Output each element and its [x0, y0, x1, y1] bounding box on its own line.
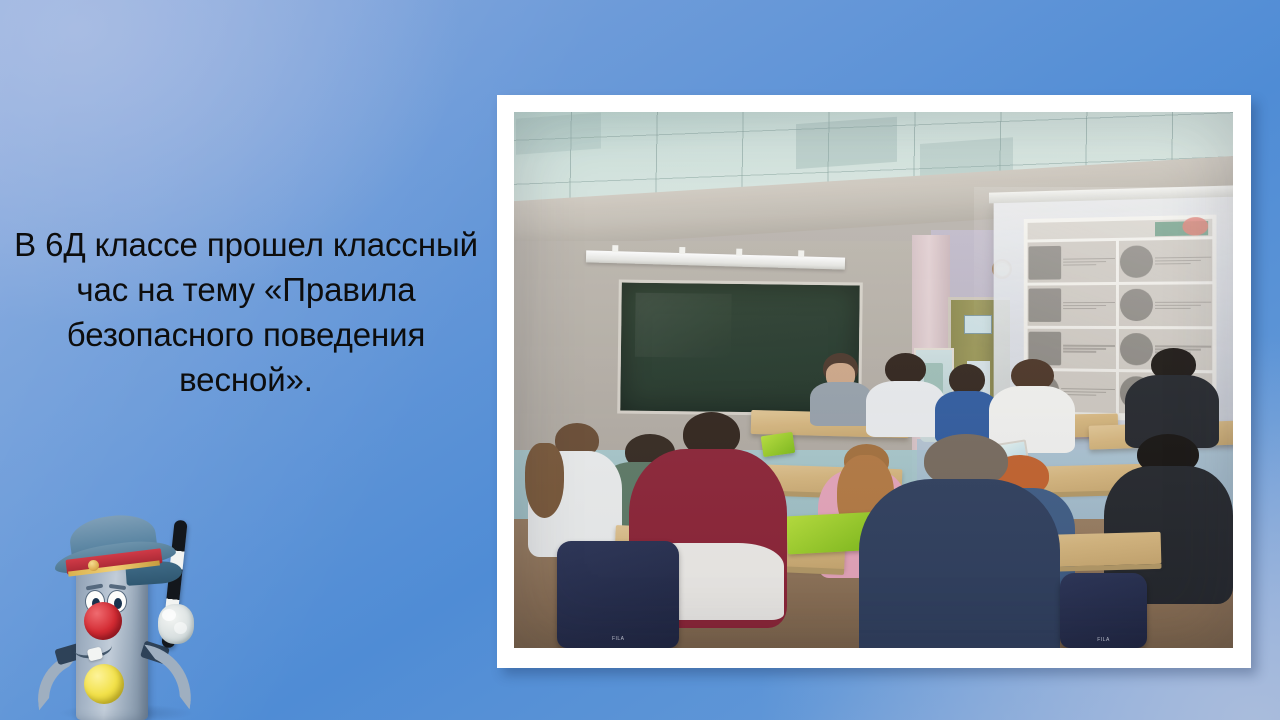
backpack — [557, 541, 679, 648]
student-grey-hoodie — [809, 353, 874, 423]
classroom-photo — [514, 112, 1233, 648]
student-white-shirt — [866, 353, 945, 433]
slide-caption-text: В 6Д классе прошел классный час на тему … — [0, 222, 492, 402]
police-cap-button — [88, 560, 99, 571]
ceiling-tile — [516, 113, 601, 155]
door-sign — [964, 315, 992, 334]
ceiling-tile — [796, 117, 897, 169]
student-navy-shirt — [859, 434, 1060, 648]
student-long-hair — [528, 423, 621, 552]
presentation-slide: В 6Д классе прошел классный час на тему … — [0, 0, 1280, 720]
mascot-hand — [158, 604, 194, 644]
mascot-yellow-light-icon — [84, 664, 124, 704]
mascot-red-light-icon — [84, 602, 122, 640]
traffic-light-police-character — [30, 498, 240, 720]
backpack — [1060, 573, 1146, 648]
mascot-right-arm — [136, 645, 198, 710]
photo-frame — [497, 95, 1251, 668]
student-black-jacket — [1125, 348, 1218, 444]
student-black-jacket — [1104, 434, 1233, 595]
